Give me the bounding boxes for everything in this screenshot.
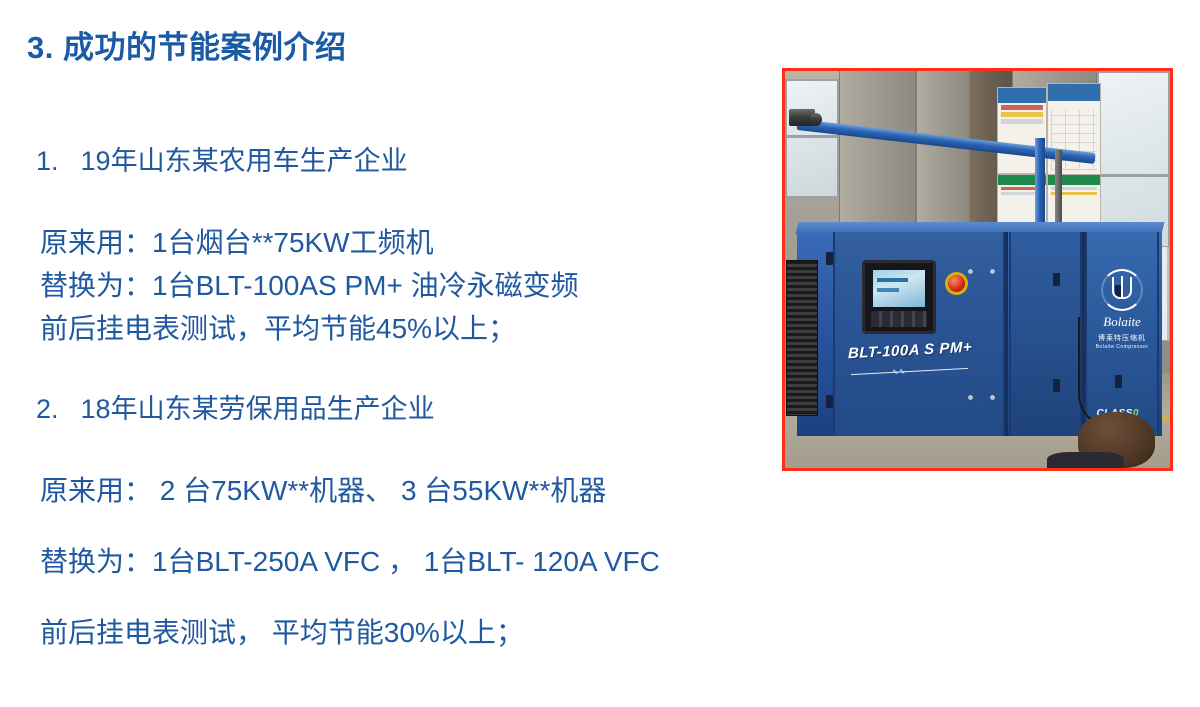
case-1-heading: 1.19年山东某农用车生产企业 (0, 140, 760, 183)
case-2-line-2: 替换为：1台BLT-250A VFC ， 1台BLT- 120A VFC (0, 540, 760, 583)
case-2-heading: 2.18年山东某劳保用品生产企业 (0, 388, 760, 431)
case-1-line-3: 前后挂电表测试，平均节能45%以上； (0, 307, 760, 350)
case-1-line-2: 替换为：1台BLT-100AS PM+ 油冷永磁变频 (0, 264, 760, 307)
spacer (0, 350, 760, 388)
compressor-photo: BLT-100A S PM+ ∿∿ Bolaite 博莱特压缩机 Bolaite… (782, 68, 1173, 471)
spacer (0, 583, 760, 611)
hmi-keypad[interactable] (871, 311, 927, 327)
emergency-stop-button[interactable] (948, 275, 965, 292)
hmi-bar (877, 278, 908, 282)
poster-row (1001, 105, 1043, 110)
wreath-icon (1101, 269, 1143, 311)
middle-door-panel[interactable] (1009, 232, 1082, 436)
poster-header (998, 88, 1046, 103)
window-mullion (1097, 174, 1170, 177)
case-1-line-1: 原来用：1台烟台**75KW工频机 (0, 221, 760, 264)
hmi-bar (877, 288, 899, 292)
person-shoulder (1047, 452, 1124, 468)
conduit-pipe (1055, 150, 1062, 229)
hmi-control-panel[interactable] (862, 260, 935, 334)
poster-row (1001, 119, 1043, 124)
case-1-heading-text: 19年山东某农用车生产企业 (81, 146, 408, 176)
spacer (0, 183, 760, 221)
case-2-line-1: 原来用： 2 台75KW**机器、 3 台55KW**机器 (0, 469, 760, 512)
door-seam (1005, 232, 1008, 436)
poster-row (1001, 112, 1043, 117)
decor-wave-mark: ∿∿ (892, 366, 905, 376)
door-hinge (1115, 375, 1122, 388)
poster-header (1048, 84, 1100, 101)
spacer (0, 512, 760, 540)
case-1-number: 1. (36, 146, 59, 176)
window-left (785, 79, 839, 198)
photo-content: BLT-100A S PM+ ∿∿ Bolaite 博莱特压缩机 Bolaite… (785, 71, 1170, 468)
door-hinge (1053, 379, 1060, 392)
air-intake-louver (786, 260, 819, 415)
body-text-column: 1.19年山东某农用车生产企业 原来用：1台烟台**75KW工频机 替换为：1台… (0, 140, 760, 654)
door-hinge (826, 252, 833, 265)
door-hinge (1053, 273, 1060, 286)
hmi-screen (872, 269, 926, 308)
case-2-number: 2. (36, 394, 59, 424)
window-mullion (785, 135, 839, 138)
door-hinge (826, 395, 833, 408)
slide-root: 3. 成功的节能案例介绍 1.19年山东某农用车生产企业 原来用：1台烟台**7… (0, 0, 1200, 707)
page-title: 3. 成功的节能案例介绍 (27, 22, 346, 67)
case-2-line-3: 前后挂电表测试， 平均节能30%以上； (0, 611, 760, 654)
spacer (0, 431, 760, 469)
case-2-heading-text: 18年山东某劳保用品生产企业 (81, 394, 435, 424)
pipe-flange (810, 113, 822, 126)
air-pipe-vertical (1035, 138, 1045, 233)
